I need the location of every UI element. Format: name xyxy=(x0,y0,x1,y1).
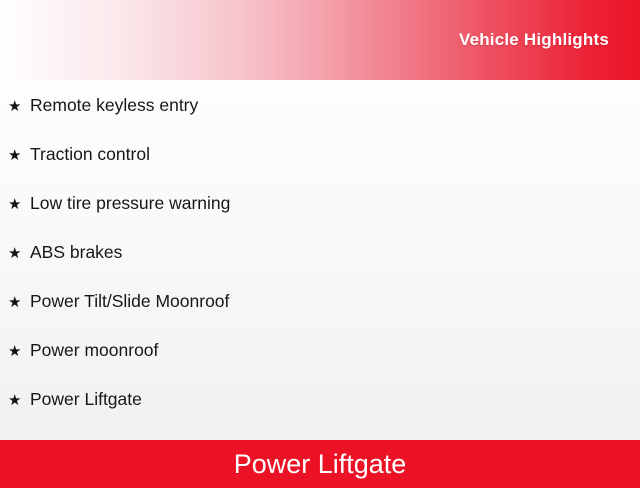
list-item-label: Power Liftgate xyxy=(30,391,142,409)
list-item: ★ Low tire pressure warning xyxy=(0,195,640,244)
vehicle-highlights-slide: Vehicle Highlights ★ Remote keyless entr… xyxy=(0,0,640,480)
list-item: ★ Power Liftgate xyxy=(0,391,640,440)
list-item-label: Power moonroof xyxy=(30,342,158,360)
header-band: Vehicle Highlights xyxy=(0,0,640,80)
list-item: ★ Traction control xyxy=(0,146,640,195)
list-item: ★ Power Tilt/Slide Moonroof xyxy=(0,293,640,342)
list-item: ★ Remote keyless entry xyxy=(0,97,640,146)
list-item: ★ Power moonroof xyxy=(0,342,640,391)
list-item-label: Low tire pressure warning xyxy=(30,195,230,213)
star-bullet-icon: ★ xyxy=(8,393,30,408)
list-item-label: ABS brakes xyxy=(30,244,122,262)
list-item-label: Remote keyless entry xyxy=(30,97,198,115)
page-title: Vehicle Highlights xyxy=(459,30,640,50)
footer-banner: Power Liftgate xyxy=(0,440,640,488)
star-bullet-icon: ★ xyxy=(8,148,30,163)
star-bullet-icon: ★ xyxy=(8,99,30,114)
list-item-label: Power Tilt/Slide Moonroof xyxy=(30,293,229,311)
star-bullet-icon: ★ xyxy=(8,246,30,261)
list-item: ★ ABS brakes xyxy=(0,244,640,293)
list-item-label: Traction control xyxy=(30,146,150,164)
star-bullet-icon: ★ xyxy=(8,197,30,212)
star-bullet-icon: ★ xyxy=(8,295,30,310)
footer-caption: Power Liftgate xyxy=(234,451,407,478)
star-bullet-icon: ★ xyxy=(8,344,30,359)
vehicle-highlights-list: ★ Remote keyless entry ★ Traction contro… xyxy=(0,80,640,440)
